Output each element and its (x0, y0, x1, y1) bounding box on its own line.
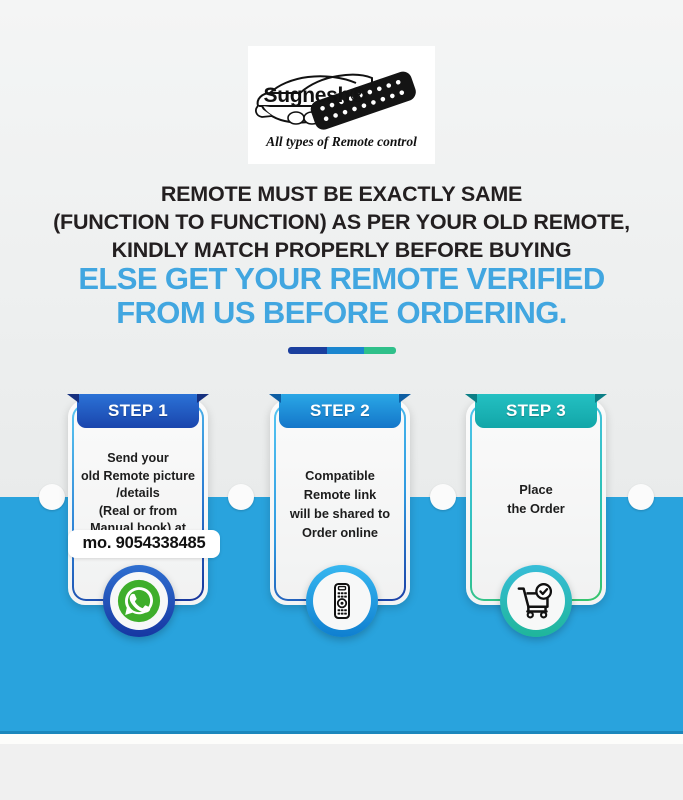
step-1-line-3: /details (80, 485, 196, 503)
whatsapp-icon (116, 578, 162, 624)
headline-line-3: KINDLY MATCH PROPERLY BEFORE BUYING (0, 236, 683, 264)
promo-poster: Sugnesh® All types of Remote control REM… (0, 0, 683, 800)
step-1-badge: STEP 1 (77, 394, 199, 428)
step-2-line-4: Order online (282, 523, 398, 542)
step-2-line-2: Remote link (282, 485, 398, 504)
headline-warning: REMOTE MUST BE EXACTLY SAME (FUNCTION TO… (0, 180, 683, 264)
step-3-line-1: Place (478, 480, 594, 499)
step-1-description: Send your old Remote picture /details (R… (80, 450, 196, 538)
headline-line-2: (FUNCTION TO FUNCTION) AS PER YOUR OLD R… (0, 208, 683, 236)
step-2-icon-ring[interactable] (306, 565, 378, 637)
step-1-icon-ring[interactable] (103, 565, 175, 637)
step-2-icon-inner (313, 572, 371, 630)
remote-control-icon (322, 581, 362, 621)
step-1-badge-label: STEP 1 (108, 401, 168, 421)
step-2-line-1: Compatible (282, 466, 398, 485)
logo-wordmark: Sugnesh® (264, 84, 366, 108)
tricolor-divider (288, 347, 396, 354)
logo-tagline: All types of Remote control (266, 134, 417, 150)
step-3-badge: STEP 3 (475, 394, 597, 428)
step-3-badge-label: STEP 3 (506, 401, 566, 421)
page-footer-area (0, 744, 683, 800)
headline-line-1: REMOTE MUST BE EXACTLY SAME (0, 180, 683, 208)
step-3-description: Place the Order (478, 480, 594, 518)
divider-segment-3 (364, 347, 396, 354)
connector-node (628, 484, 654, 510)
step-1-line-2: old Remote picture (80, 468, 196, 486)
step-1-line-1: Send your (80, 450, 196, 468)
headline-cta: ELSE GET YOUR REMOTE VERIFIED FROM US BE… (0, 262, 683, 330)
step-3-icon-ring[interactable] (500, 565, 572, 637)
connector-node (430, 484, 456, 510)
step-1-icon-inner (110, 572, 168, 630)
step-2-badge-label: STEP 2 (310, 401, 370, 421)
step-1-line-4: (Real or from (80, 503, 196, 521)
brand-logo: Sugnesh® All types of Remote control (248, 46, 435, 164)
hand-holding-remote-icon: Sugnesh® (252, 60, 432, 136)
band-white-strip (0, 734, 683, 744)
shopping-cart-check-icon (515, 580, 557, 622)
step-3-icon-inner (507, 572, 565, 630)
whatsapp-phone-number[interactable]: mo. 9054338485 (68, 530, 220, 558)
step-2-line-3: will be shared to (282, 504, 398, 523)
connector-node (39, 484, 65, 510)
divider-segment-2 (327, 347, 364, 354)
step-3-line-2: the Order (478, 499, 594, 518)
connector-node (228, 484, 254, 510)
step-2-badge: STEP 2 (279, 394, 401, 428)
headline-cta-line-2: FROM US BEFORE ORDERING. (0, 296, 683, 330)
divider-segment-1 (288, 347, 327, 354)
step-2-description: Compatible Remote link will be shared to… (282, 466, 398, 542)
headline-cta-line-1: ELSE GET YOUR REMOTE VERIFIED (0, 262, 683, 296)
